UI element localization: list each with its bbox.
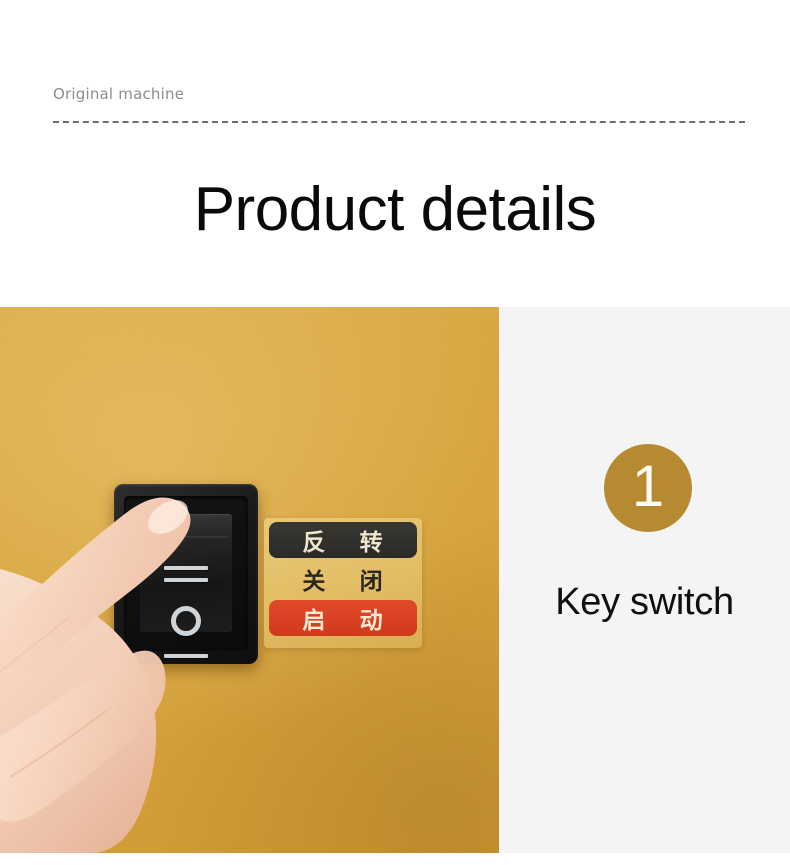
feature-caption: Key switch bbox=[499, 579, 790, 625]
page-title: Product details bbox=[0, 172, 790, 248]
step-number-badge: 1 bbox=[604, 444, 692, 532]
label-start: 启 动 bbox=[269, 600, 417, 636]
hand-illustration bbox=[0, 307, 240, 853]
footer-strip bbox=[0, 853, 790, 865]
product-photo: 反 转 关 闭 启 动 bbox=[0, 307, 499, 853]
label-off-char-1: 关 bbox=[302, 562, 326, 596]
label-off: 关 闭 bbox=[269, 561, 417, 597]
info-panel: 1 Key switch bbox=[499, 307, 790, 853]
content-row: 反 转 关 闭 启 动 bbox=[0, 307, 790, 853]
label-reverse: 反 转 bbox=[269, 522, 417, 558]
step-number: 1 bbox=[632, 458, 664, 516]
label-reverse-char-1: 反 bbox=[302, 523, 326, 557]
eyebrow-label: Original machine bbox=[53, 84, 184, 104]
page-header: Original machine Product details bbox=[0, 0, 790, 307]
label-off-char-2: 闭 bbox=[360, 562, 384, 596]
switch-label-sticker: 反 转 关 闭 启 动 bbox=[264, 518, 422, 648]
label-start-char-2: 动 bbox=[360, 601, 384, 635]
label-start-char-1: 启 bbox=[302, 601, 326, 635]
label-reverse-char-2: 转 bbox=[360, 523, 384, 557]
product-details-page: Original machine Product details bbox=[0, 0, 790, 865]
dashed-divider bbox=[53, 121, 745, 123]
